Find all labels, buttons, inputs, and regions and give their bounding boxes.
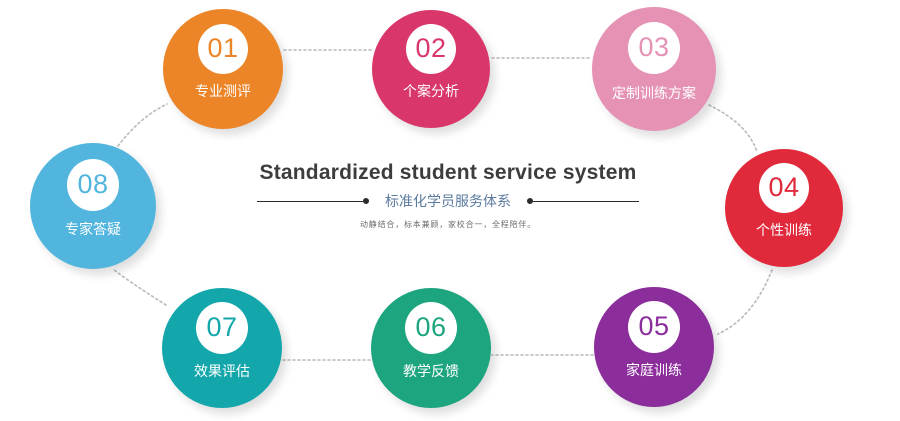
node-number-badge-01: 01 bbox=[198, 24, 248, 74]
connector-path-7 bbox=[113, 269, 166, 305]
process-node-06[interactable]: 06教学反馈 bbox=[371, 288, 491, 408]
node-number-badge-07: 07 bbox=[196, 302, 248, 354]
center-title-block: Standardized student service system 标准化学… bbox=[228, 160, 668, 230]
node-label-08: 专家答疑 bbox=[30, 219, 156, 239]
page-title: Standardized student service system bbox=[228, 160, 668, 185]
subtitle-chinese: 标准化学员服务体系 bbox=[369, 194, 527, 208]
process-node-04[interactable]: 04个性训练 bbox=[725, 149, 843, 267]
node-number-badge-03: 03 bbox=[628, 22, 680, 74]
node-label-07: 效果评估 bbox=[162, 361, 282, 381]
node-label-01: 专业测评 bbox=[163, 81, 283, 101]
rule-dot-right bbox=[527, 198, 533, 204]
rule-left bbox=[257, 201, 369, 202]
subtitle-row: 标准化学员服务体系 bbox=[228, 192, 668, 210]
connector-path-3 bbox=[709, 105, 757, 152]
node-number-badge-06: 06 bbox=[405, 302, 457, 354]
node-number-badge-02: 02 bbox=[406, 24, 456, 74]
process-node-03[interactable]: 03定制训练方案 bbox=[592, 7, 716, 131]
connector-path-8 bbox=[118, 104, 167, 146]
node-number-badge-04: 04 bbox=[759, 163, 809, 213]
node-label-04: 个性训练 bbox=[725, 220, 843, 240]
rule-right bbox=[527, 201, 639, 202]
node-label-06: 教学反馈 bbox=[371, 361, 491, 381]
node-label-03: 定制训练方案 bbox=[592, 83, 716, 103]
process-node-07[interactable]: 07效果评估 bbox=[162, 288, 282, 408]
node-label-05: 家庭训练 bbox=[594, 360, 714, 380]
node-label-02: 个案分析 bbox=[372, 81, 490, 101]
tagline: 动静结合，标本兼顾，家校合一，全程陪伴。 bbox=[228, 219, 668, 230]
node-number-badge-05: 05 bbox=[628, 301, 680, 353]
process-node-05[interactable]: 05家庭训练 bbox=[594, 287, 714, 407]
infographic-canvas: 01专业测评02个案分析03定制训练方案04个性训练05家庭训练06教学反馈07… bbox=[0, 0, 900, 421]
node-number-badge-08: 08 bbox=[67, 159, 119, 211]
process-node-02[interactable]: 02个案分析 bbox=[372, 10, 490, 128]
process-node-01[interactable]: 01专业测评 bbox=[163, 9, 283, 129]
connector-path-4 bbox=[718, 270, 772, 334]
process-node-08[interactable]: 08专家答疑 bbox=[30, 143, 156, 269]
